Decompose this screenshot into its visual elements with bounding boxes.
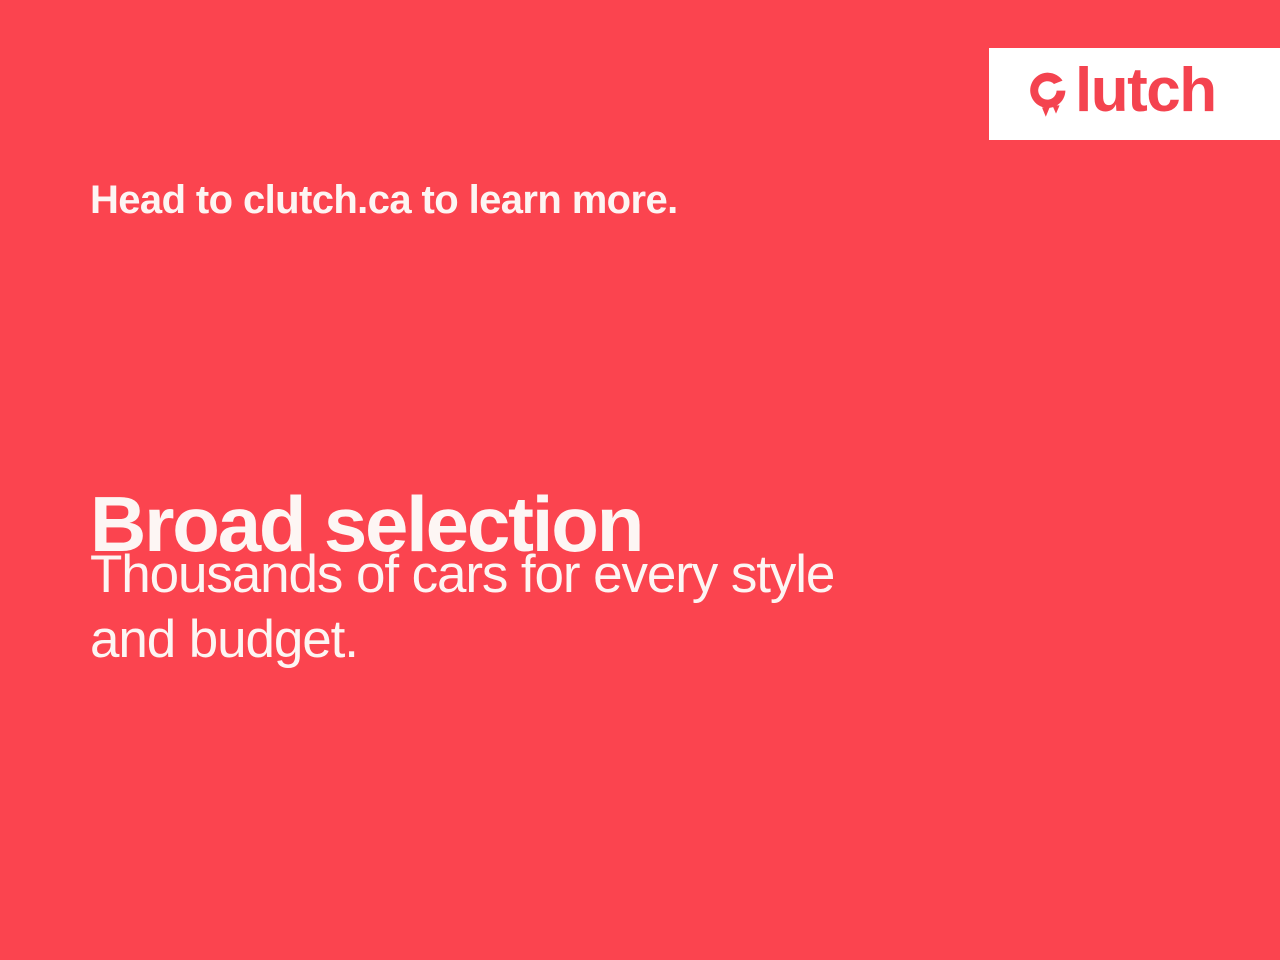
subheadline-text: Thousands of cars for every style and bu… [90,543,834,672]
clutch-logo[interactable]: lutch [1025,63,1216,125]
brand-logo-plate: lutch [989,48,1280,140]
subheadline-line: Thousands of cars for every style [90,543,834,608]
kicker-text: Head to clutch.ca to learn more. [90,177,678,223]
clutch-wordmark: lutch [1075,60,1216,122]
promo-slide: lutch Head to clutch.ca to learn more. B… [0,0,1280,960]
clutch-c-mark-icon [1025,68,1071,120]
subheadline-line: and budget. [90,608,834,673]
